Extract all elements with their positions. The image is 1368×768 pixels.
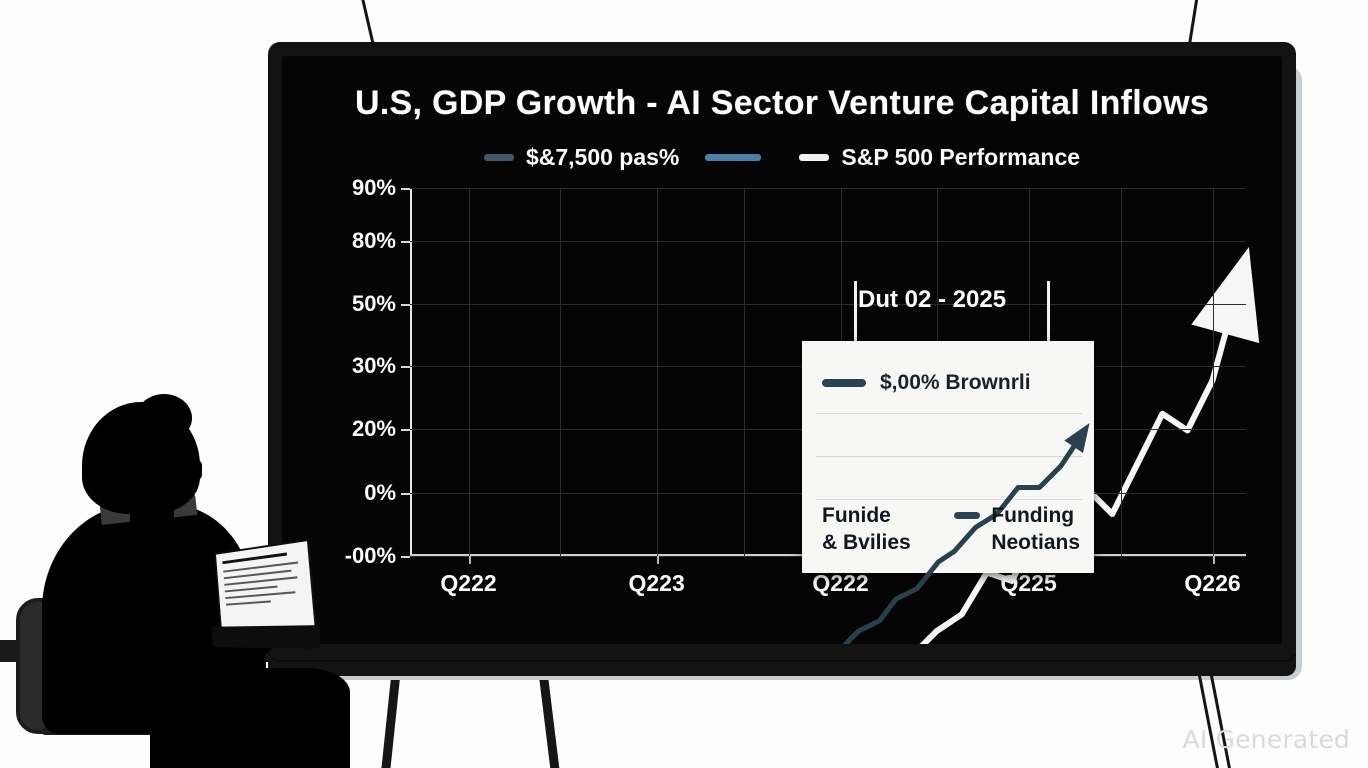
y-axis-label: 90%	[352, 175, 396, 201]
line-swatch	[705, 154, 761, 161]
inset-plot-area	[816, 413, 1082, 499]
x-axis-tick	[469, 556, 471, 564]
y-axis-tick	[401, 556, 410, 558]
y-axis-label: 30%	[352, 353, 396, 379]
legend-item-0[interactable]: $&7,500 pas%	[484, 144, 679, 171]
legend-item-1[interactable]	[705, 154, 773, 161]
laptop-doc-line	[226, 600, 271, 605]
y-axis-tick	[401, 429, 410, 431]
inset-footer-right: Funding Neotians	[954, 503, 1080, 557]
annotation-date-label: Dut 02 - 2025	[858, 286, 1006, 314]
gridline-vertical	[1213, 188, 1214, 556]
illustration-scene: U.S, GDP Growth - AI Sector Venture Capi…	[0, 0, 1368, 768]
line-swatch	[799, 154, 829, 161]
inset-footer-left-label: Funide & Bvilies	[822, 503, 911, 557]
legend-item-2[interactable]: S&P 500 Performance	[799, 144, 1080, 171]
legend-label-0: $&7,500 pas%	[526, 144, 679, 171]
gridline-vertical	[1121, 188, 1122, 556]
y-axis-tick	[401, 304, 410, 306]
chart-legend: $&7,500 pas% S&P 500 Performance	[282, 144, 1282, 171]
laptop-keyboard-base	[212, 625, 320, 649]
laptop-doc-title-line	[222, 552, 286, 564]
y-axis-tick	[401, 366, 410, 368]
inset-detail-card[interactable]: $,00% Brownrli Funide & Bvilies Funding …	[802, 341, 1094, 573]
ai-generated-watermark: AI Generated	[1183, 725, 1350, 754]
gridline-vertical	[469, 188, 470, 556]
y-axis-label: 80%	[352, 228, 396, 254]
laptop-doc-line	[225, 591, 295, 599]
person-hair-bun	[136, 394, 192, 442]
y-axis-tick	[401, 493, 410, 495]
laptop-doc-line	[225, 586, 278, 593]
laptop[interactable]	[206, 544, 318, 652]
x-axis-label: Q222	[440, 570, 496, 597]
laptop-screen	[214, 539, 317, 634]
laptop-document-text	[222, 551, 305, 611]
x-axis-label: Q226	[1184, 570, 1240, 597]
x-axis-tick	[657, 556, 659, 564]
chart-canvas: U.S, GDP Growth - AI Sector Venture Capi…	[282, 56, 1282, 644]
y-axis-label: -00%	[345, 543, 396, 569]
legend-label-2: S&P 500 Performance	[841, 144, 1080, 171]
y-axis-tick	[401, 188, 410, 190]
line-swatch	[954, 512, 980, 519]
x-axis-tick	[1213, 556, 1215, 564]
chart-title: U.S, GDP Growth - AI Sector Venture Capi…	[282, 84, 1282, 123]
y-axis-label: 50%	[352, 291, 396, 317]
inset-footer: Funide & Bvilies Funding Neotians	[822, 503, 1080, 557]
y-axis-tick	[401, 241, 410, 243]
inset-footer-right-label: Funding Neotians	[991, 503, 1080, 557]
monitor-bezel: U.S, GDP Growth - AI Sector Venture Capi…	[268, 42, 1296, 660]
line-swatch	[484, 154, 514, 161]
gridline-vertical	[560, 188, 561, 556]
monitor-screen: U.S, GDP Growth - AI Sector Venture Capi…	[282, 56, 1282, 644]
y-axis-label: 0%	[364, 480, 396, 506]
inset-legend: $,00% Brownrli	[822, 371, 1080, 395]
person-ear	[152, 466, 170, 490]
gridline-vertical	[744, 188, 745, 556]
x-axis-label: Q223	[628, 570, 684, 597]
line-swatch	[822, 379, 866, 387]
y-axis-label: 20%	[352, 416, 396, 442]
person-glasses	[176, 460, 202, 480]
inset-legend-label: $,00% Brownrli	[880, 371, 1031, 395]
gridline-vertical	[657, 188, 658, 556]
